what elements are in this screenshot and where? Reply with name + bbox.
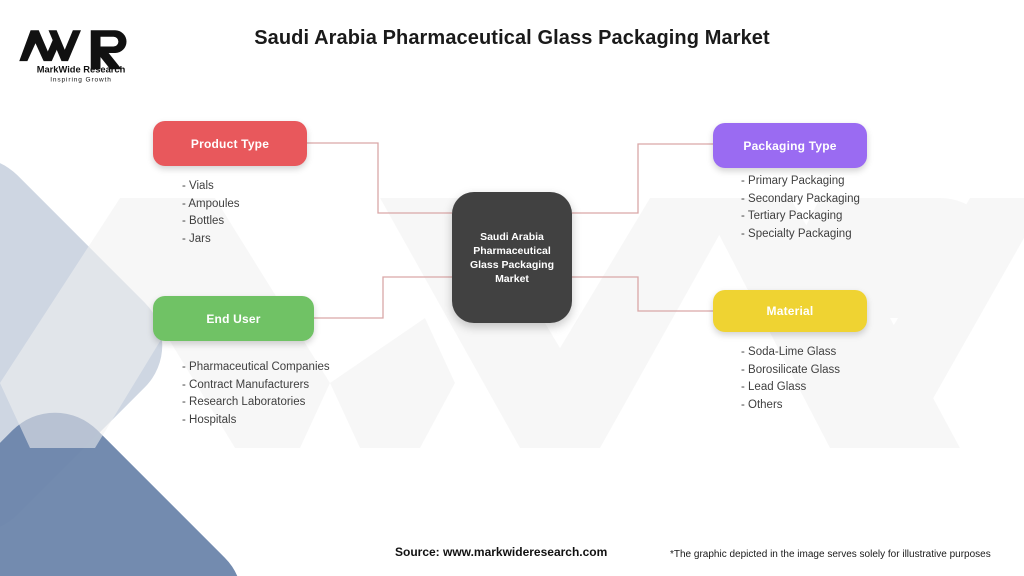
branch-label-packaging-type: Packaging Type [743,139,836,153]
footer-disclaimer: *The graphic depicted in the image serve… [670,549,991,560]
list-item: - Contract Manufacturers [182,377,330,395]
branch-pill-material[interactable]: Material [713,290,867,332]
branch-pill-packaging-type[interactable]: Packaging Type [713,123,867,168]
branch-items-material: - Soda-Lime Glass - Borosilicate Glass -… [741,344,840,414]
list-item: - Pharmaceutical Companies [182,359,330,377]
list-item: - Primary Packaging [741,173,860,191]
logo-tagline: Inspiring Growth [50,76,112,83]
branch-pill-end-user[interactable]: End User [153,296,314,341]
list-item: - Soda-Lime Glass [741,344,840,362]
branch-items-product-type: - Vials - Ampoules - Bottles - Jars [182,178,240,248]
list-item: - Vials [182,178,240,196]
list-item: - Research Laboratories [182,394,330,412]
center-node-label: Saudi Arabia Pharmaceutical Glass Packag… [452,230,572,286]
list-item: - Borosilicate Glass [741,362,840,380]
list-item: - Secondary Packaging [741,191,860,209]
branch-items-packaging-type: - Primary Packaging - Secondary Packagin… [741,173,860,243]
branch-items-end-user: - Pharmaceutical Companies - Contract Ma… [182,359,330,429]
branch-label-end-user: End User [206,312,260,326]
center-node[interactable]: Saudi Arabia Pharmaceutical Glass Packag… [452,192,572,323]
infographic-canvas: MarkWide Research Inspiring Growth Saudi… [0,0,1024,576]
list-item: - Hospitals [182,412,330,430]
footer-source: Source: www.markwideresearch.com [395,545,607,559]
logo-company-name: MarkWide Research [37,65,126,75]
list-item: - Ampoules [182,196,240,214]
branch-label-product-type: Product Type [191,137,269,151]
list-item: - Tertiary Packaging [741,208,860,226]
list-item: - Lead Glass [741,379,840,397]
list-item: - Bottles [182,213,240,231]
list-item: - Jars [182,231,240,249]
decorative-shape-light [0,133,187,557]
branch-label-material: Material [767,304,814,318]
branch-pill-product-type[interactable]: Product Type [153,121,307,166]
list-item: - Specialty Packaging [741,226,860,244]
list-item: - Others [741,397,840,415]
page-title: Saudi Arabia Pharmaceutical Glass Packag… [0,27,1024,50]
